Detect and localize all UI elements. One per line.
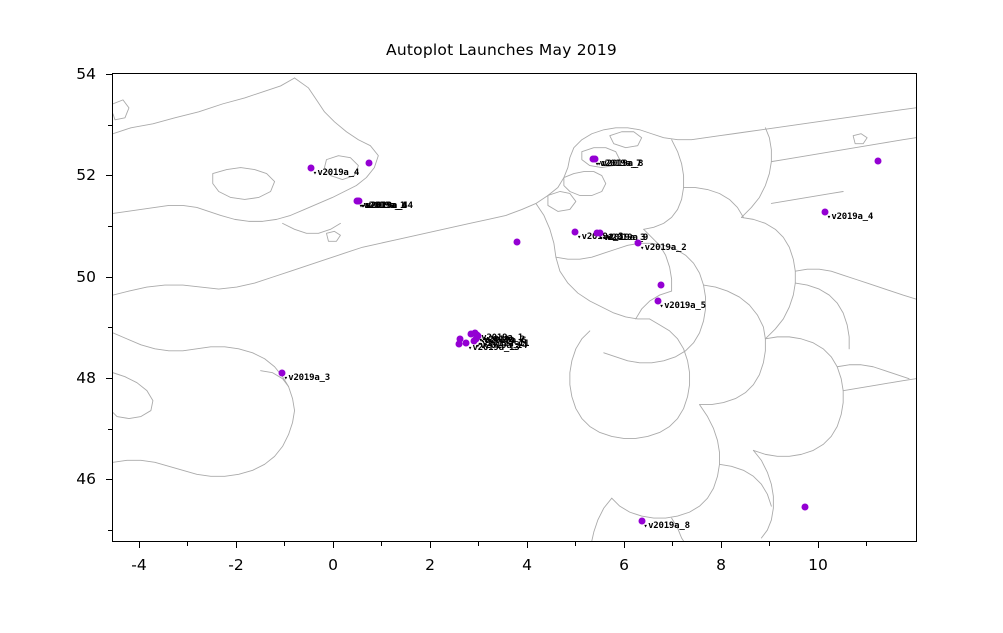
x-tick-minor [478, 542, 479, 546]
x-tick-label: -4 [131, 556, 146, 574]
scatter-point [456, 341, 463, 348]
x-tick-major [527, 542, 528, 548]
map-coastlines [113, 74, 916, 541]
scatter-point [513, 239, 520, 246]
scatter-point-label: v2019a_2 [640, 243, 686, 253]
y-tick-major [106, 74, 112, 75]
x-tick-major [624, 542, 625, 548]
x-tick-minor [381, 542, 382, 546]
y-tick-label: 50 [0, 268, 96, 286]
x-tick-major [236, 542, 237, 548]
plot-title: Autoplot Launches May 2019 [0, 41, 1003, 59]
x-tick-major [721, 542, 722, 548]
x-tick-label: 2 [425, 556, 435, 574]
y-tick-label: 52 [0, 166, 96, 184]
x-tick-label: 6 [619, 556, 629, 574]
y-tick-minor [108, 429, 112, 430]
y-tick-label: 48 [0, 369, 96, 387]
scatter-point-label: v2019a_44 [361, 201, 412, 211]
x-tick-label: 4 [522, 556, 532, 574]
y-tick-minor [108, 327, 112, 328]
scatter-point-label: v2019a_3 [284, 373, 330, 383]
scatter-point [658, 281, 665, 288]
x-tick-label: 0 [328, 556, 338, 574]
scatter-point-label: v2019a_13 [468, 343, 519, 353]
y-tick-label: 46 [0, 470, 96, 488]
scatter-point-label: v2019a_4 [313, 168, 359, 178]
figure-canvas: Autoplot Launches May 2019 [0, 0, 1003, 633]
x-tick-minor [672, 542, 673, 546]
y-tick-major [106, 175, 112, 176]
scatter-point [875, 157, 882, 164]
x-tick-label: 8 [716, 556, 726, 574]
x-tick-minor [866, 542, 867, 546]
x-tick-label: -2 [228, 556, 243, 574]
x-tick-minor [284, 542, 285, 546]
y-tick-major [106, 479, 112, 480]
x-tick-major [430, 542, 431, 548]
x-tick-minor [187, 542, 188, 546]
y-tick-label: 54 [0, 65, 96, 83]
y-tick-major [106, 277, 112, 278]
y-tick-minor [108, 125, 112, 126]
scatter-point-label: v2019a_8 [597, 159, 643, 169]
x-tick-major [139, 542, 140, 548]
y-tick-minor [108, 226, 112, 227]
scatter-point [802, 503, 809, 510]
y-tick-major [106, 378, 112, 379]
x-tick-minor [769, 542, 770, 546]
x-tick-major [818, 542, 819, 548]
scatter-point [366, 159, 373, 166]
x-tick-label: 10 [808, 556, 828, 574]
y-tick-minor [108, 530, 112, 531]
map-axes [112, 73, 917, 542]
scatter-point-label: v2019a_5 [660, 301, 706, 311]
x-tick-minor [575, 542, 576, 546]
scatter-point-label: v2019a_8 [644, 521, 690, 531]
x-tick-major [333, 542, 334, 548]
scatter-point-label: v2019a_4 [827, 212, 873, 222]
